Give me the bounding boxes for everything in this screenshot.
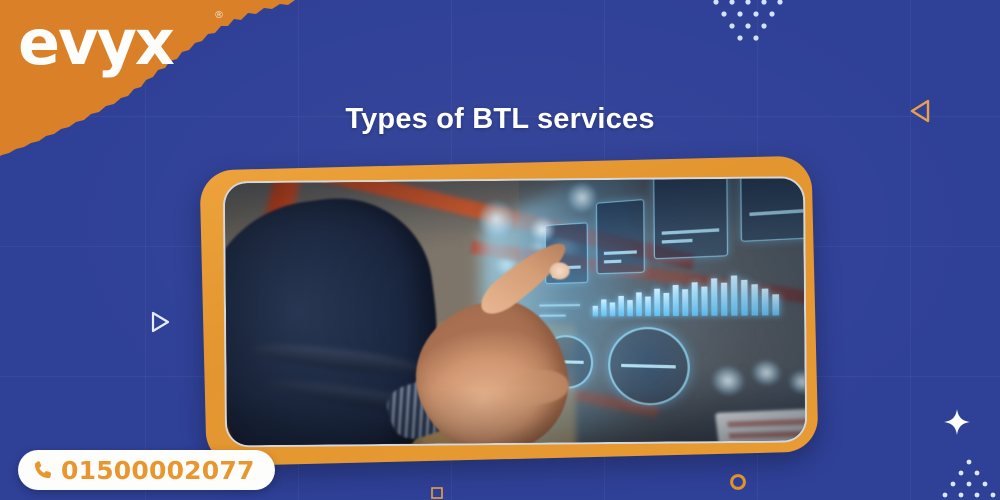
device-screen [223,176,807,447]
phone-icon [32,459,54,481]
hud-bar-chart [592,266,779,316]
hud-bar [627,300,633,316]
hud-bar [682,289,688,316]
hud-bar [610,302,616,316]
screen-photo [223,176,807,447]
square-outline-bottom [430,486,444,500]
hud-glow-dot [789,370,807,395]
hud-bar [731,275,738,315]
sparkle-star [943,408,971,436]
phone-number: 01500002077 [61,456,255,485]
hud-bar [601,299,607,316]
brand-logo-text: evyx [18,12,173,74]
contact-phone-badge[interactable]: 01500002077 [18,450,275,490]
brand-logo-patch: evyx ® [0,0,296,171]
hud-bar [762,289,769,316]
page-title: Types of BTL services [0,103,1000,136]
hud-glow-dot [712,366,745,397]
banner-canvas: evyx ® Types of BTL services [0,0,1000,500]
hud-bar [701,286,707,315]
hud-divider [540,315,566,317]
hud-bar [741,280,748,316]
hud-bar [645,297,651,317]
hud-bar [721,283,728,316]
sleeve-fold [251,339,422,378]
ceiling-light [567,182,597,212]
hud-bar [636,292,642,316]
triangle-outline-left [148,310,172,334]
hud-glow-dot [752,360,781,387]
ceiling-light [529,216,555,242]
ring-bottom-center [728,472,748,492]
hud-card [715,407,807,448]
fingertip [550,262,570,279]
hud-bar [692,282,698,316]
device-mockup [199,156,818,467]
hud-panel [740,176,807,242]
hud-bar [663,293,669,316]
device-frame [199,156,818,467]
hud-bar [772,294,779,315]
hud-bar [618,296,624,316]
hud-bar [593,306,598,317]
dot-cluster-bottom-right [938,458,1000,500]
hud-panel [653,176,728,259]
hud-panel [596,199,645,274]
registered-trademark-icon: ® [214,10,224,21]
ceiling-light [479,199,513,239]
dot-cluster-top-right [702,0,794,48]
hud-bar [673,285,679,316]
hud-bar [751,284,758,315]
hud-bar [711,278,717,315]
hud-bar [654,289,660,316]
